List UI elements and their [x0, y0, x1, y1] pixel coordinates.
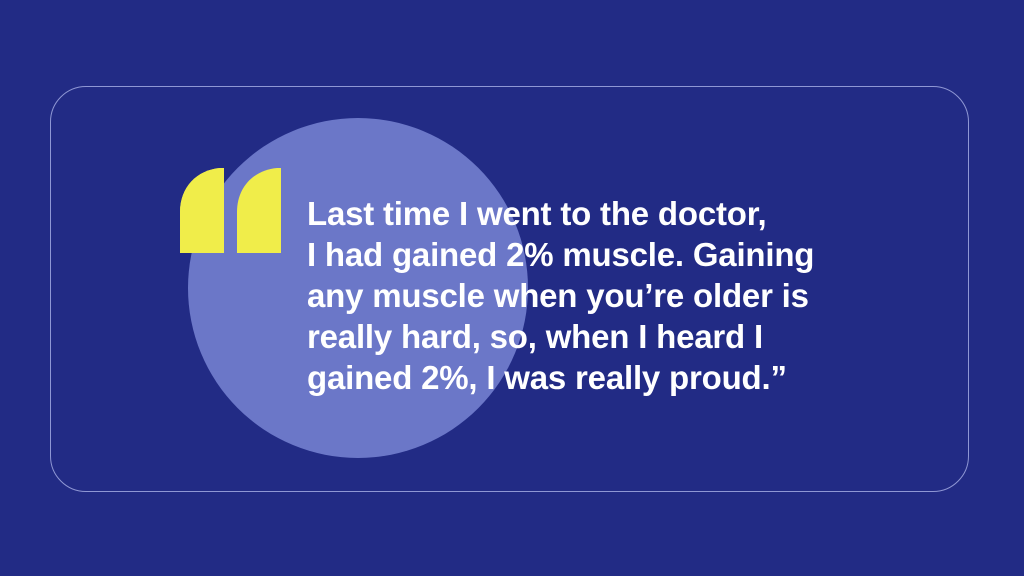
- quote-text: Last time I went to the doctor, I had ga…: [307, 193, 867, 398]
- quotation-mark-icon: [180, 168, 281, 253]
- quote-slide: Last time I went to the doctor, I had ga…: [0, 0, 1024, 576]
